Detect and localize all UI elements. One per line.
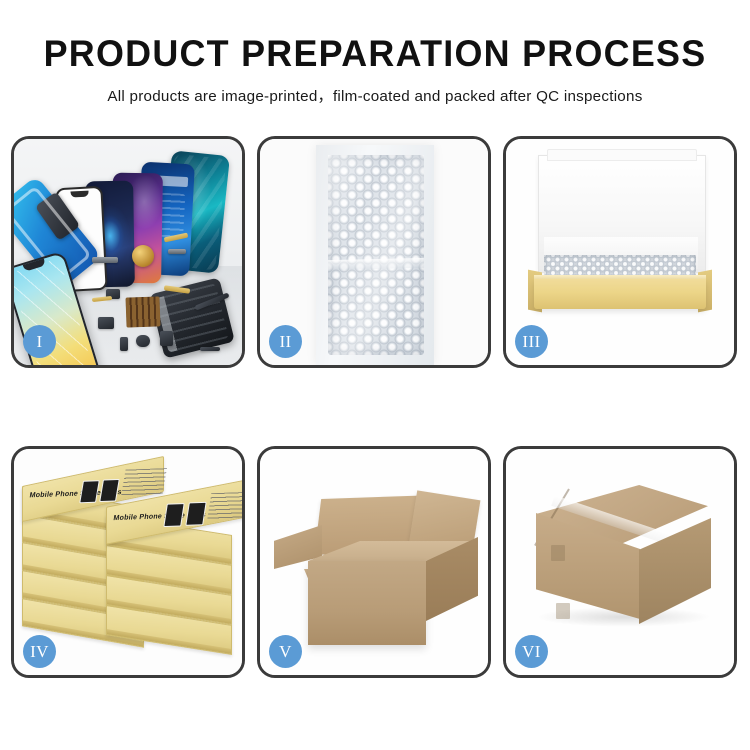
process-step-grid: I II III [11, 136, 739, 678]
process-step-panel-1[interactable]: I [11, 136, 245, 368]
process-step-panel-4[interactable]: Mobile Phone Spare Parts Mobile Phone Sp… [11, 446, 245, 678]
step-badge-4: IV [23, 635, 56, 668]
taptic-engine-icon [98, 317, 114, 329]
retail-box-stack: Mobile Phone Spare Parts Mobile Phone Sp… [18, 463, 242, 669]
process-step-panel-2[interactable]: II [257, 136, 491, 368]
page-title: PRODUCT PREPARATION PROCESS [11, 0, 739, 73]
retail-box-spec-back [121, 468, 167, 496]
battery-connector-icon [160, 331, 173, 346]
retail-box-thumb-front-2 [185, 502, 206, 526]
carton-front-wall [308, 561, 426, 645]
carton-handle-tab-lower [556, 603, 570, 619]
screw-set-icon [200, 347, 220, 351]
retail-box-thumb-back-1 [79, 480, 100, 503]
antenna-strip-icon [168, 249, 186, 254]
carton-handle-tab-upper [551, 545, 565, 561]
process-step-panel-3[interactable]: III [503, 136, 737, 368]
retail-box-thumb-back-2 [99, 479, 120, 502]
page-subtitle: All products are image-printed，film-coat… [0, 73, 750, 106]
retail-box-thumb-front-1 [163, 503, 184, 527]
step-badge-3: III [515, 325, 548, 358]
sim-tray-icon [120, 337, 128, 351]
process-step-panel-6[interactable]: VI [503, 446, 737, 678]
retail-box-spec-front [207, 492, 242, 520]
step-badge-5: V [269, 635, 302, 668]
process-step-panel-5[interactable]: V [257, 446, 491, 678]
mailer-front-wall [534, 279, 706, 309]
step-badge-1: I [23, 325, 56, 358]
step-badge-6: VI [515, 635, 548, 668]
product-preparation-infographic: PRODUCT PREPARATION PROCESS All products… [0, 0, 750, 750]
bubble-wrap-icon [328, 155, 424, 355]
vibration-motor-icon [132, 245, 154, 267]
step-badge-2: II [269, 325, 302, 358]
header: PRODUCT PREPARATION PROCESS All products… [0, 0, 750, 106]
speaker-mesh-icon [92, 257, 118, 263]
earpiece-icon [136, 335, 150, 347]
chip-array-icon [125, 296, 160, 327]
